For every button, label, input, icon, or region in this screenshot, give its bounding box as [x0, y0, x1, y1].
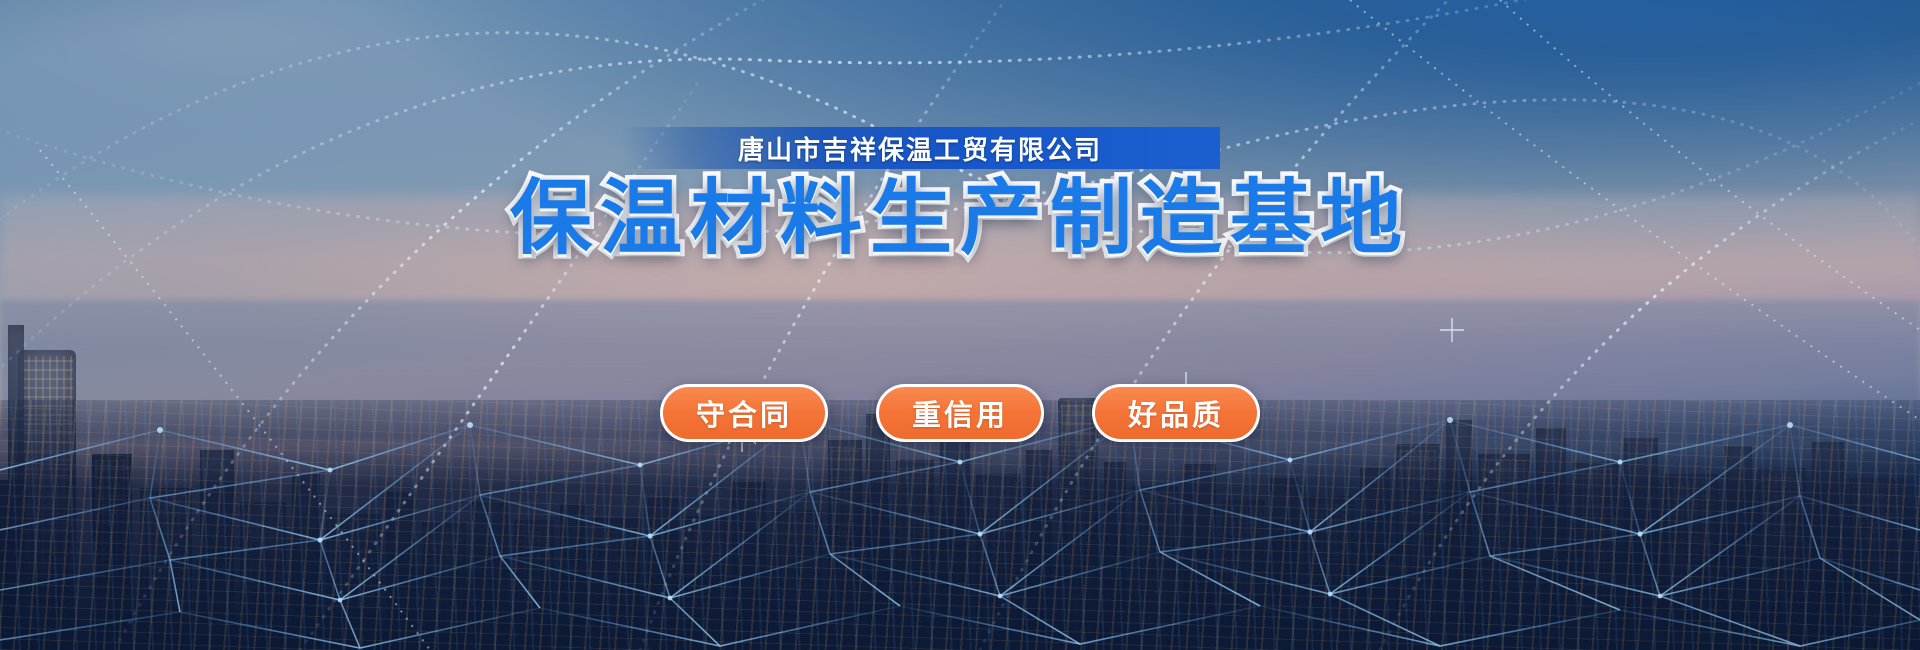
tagline-pill-1-label: 守合同 — [696, 392, 792, 434]
tagline-pill-3[interactable]: 好品质 — [1092, 384, 1260, 442]
hero-banner: 唐山市吉祥保温工贸有限公司 保温材料生产制造基地 守合同 重信用 好品质 — [0, 0, 1920, 650]
tagline-pill-group: 守合同 重信用 好品质 — [0, 384, 1920, 442]
tagline-pill-2-label: 重信用 — [912, 392, 1008, 434]
tagline-pill-2[interactable]: 重信用 — [876, 384, 1044, 442]
headline-container: 保温材料生产制造基地 — [0, 176, 1920, 262]
tagline-pill-1[interactable]: 守合同 — [660, 384, 828, 442]
company-name-band: 唐山市吉祥保温工贸有限公司 — [620, 127, 1220, 169]
company-name-text: 唐山市吉祥保温工贸有限公司 — [738, 130, 1102, 167]
headline-text: 保温材料生产制造基地 — [510, 176, 1410, 262]
tagline-pill-3-label: 好品质 — [1128, 392, 1224, 434]
